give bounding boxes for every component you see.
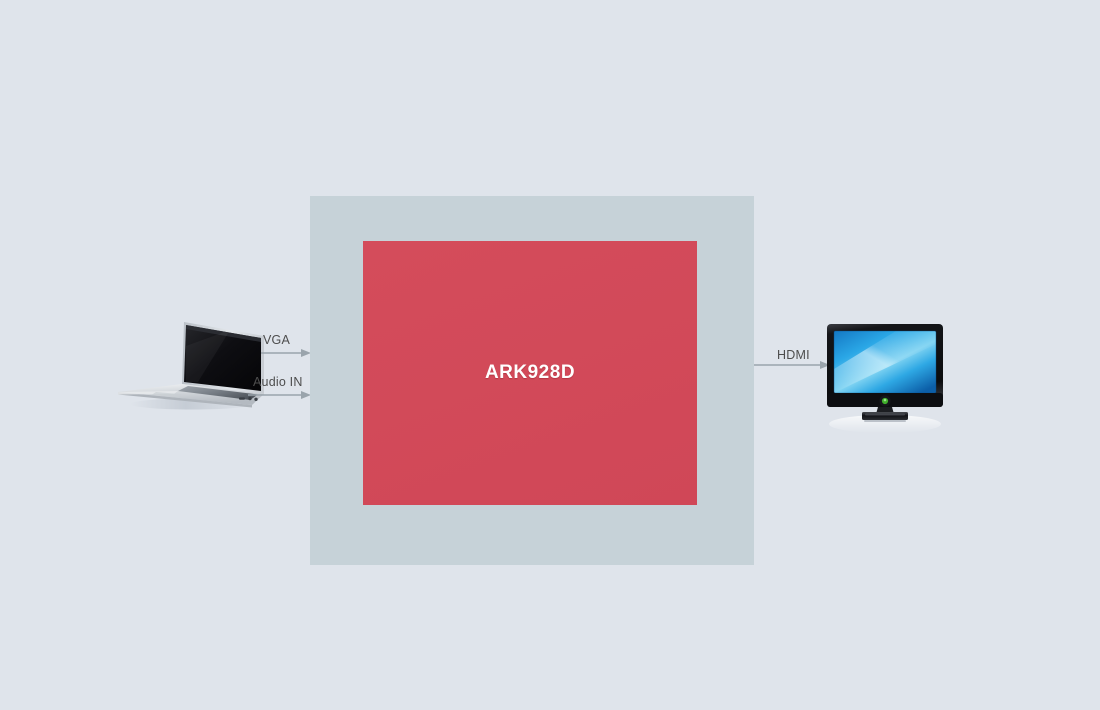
display-stand-base [862,412,908,420]
device-name-label: ARK928D [485,362,575,384]
display-illustration [818,322,952,434]
connection-label-audio-in: Audio IN [253,375,303,389]
laptop-port-3 [239,397,245,399]
display-stand-base-highlight [865,414,905,416]
display-power-indicator-glow [884,399,887,402]
diagram-canvas: VGA Audio IN ARK928D HDMI [0,0,1100,710]
display-stand-shadow [864,420,906,422]
connection-label-vga: VGA [263,333,290,347]
connection-arrow-vga [261,348,311,358]
connection-arrow-audio-in [248,390,311,400]
device-body: ARK928D [363,241,697,505]
